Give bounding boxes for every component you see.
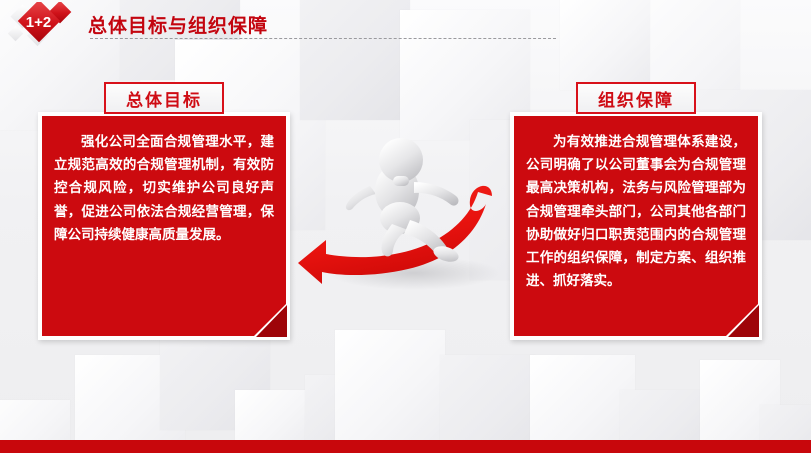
card-badge-organizational-guarantee: 组织保障 <box>576 82 696 114</box>
card-organizational-guarantee: 组织保障 为有效推进合规管理体系建设，公司明确了以公司董事会为合规管理最高决策机… <box>510 82 762 340</box>
folded-corner-icon <box>722 300 762 340</box>
card-text-overall-goal: 强化公司全面合规管理水平，建立规范高效的合规管理机制，有效防控合规风险，切实维护… <box>54 130 274 246</box>
card-text-organizational-guarantee: 为有效推进合规管理体系建设，公司明确了以公司董事会为合规管理最高决策机构，法务与… <box>526 130 746 293</box>
figure-3d <box>346 138 461 265</box>
card-overall-goal: 总体目标 强化公司全面合规管理水平，建立规范高效的合规管理机制，有效防控合规风险… <box>38 82 290 340</box>
card-body-organizational-guarantee: 为有效推进合规管理体系建设，公司明确了以公司董事会为合规管理最高决策机构，法务与… <box>510 112 762 340</box>
slide-canvas: 1+2 总体目标与组织保障 <box>0 0 811 453</box>
card-badge-overall-goal: 总体目标 <box>104 82 224 114</box>
person-surfing-red-arrow-illustration <box>296 108 518 298</box>
slide-header: 1+2 总体目标与组织保障 <box>0 0 811 52</box>
diamond-cluster-logo: 1+2 <box>8 2 84 50</box>
bottom-accent-bar <box>0 440 811 453</box>
logo-text: 1+2 <box>26 14 51 31</box>
folded-corner-icon <box>250 300 290 340</box>
page-title: 总体目标与组织保障 <box>88 11 268 38</box>
card-body-overall-goal: 强化公司全面合规管理水平，建立规范高效的合规管理机制，有效防控合规风险，切实维护… <box>38 112 290 340</box>
header-divider <box>90 38 556 39</box>
